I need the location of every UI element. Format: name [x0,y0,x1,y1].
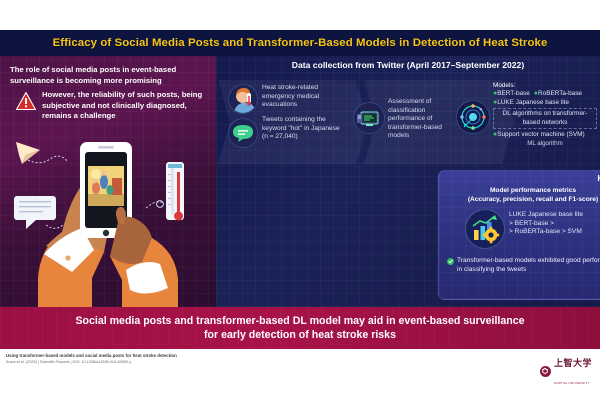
model-item: BERT-base [497,90,530,97]
hands-holding-smartphone-illustration [0,128,216,307]
step1-text: Heat stroke-related emergency medical ev… [262,84,338,110]
warning-text: However, the reliability of such posts, … [42,90,208,122]
page-title: Efficacy of Social Media Posts and Trans… [53,37,548,49]
person-with-thermometer-icon [228,84,258,114]
step3-text: Assessment of classification performance… [388,98,450,141]
sophia-university-crest-icon [540,366,551,377]
methods-and-outcomes-area: Data collection from Twitter (April 2017… [216,56,600,307]
tweet-bubble-icon [228,118,258,148]
key-outcomes-panel: Key outcomes Model performance metrics (… [438,170,600,300]
poster-title-band: Efficacy of Social Media Posts and Trans… [0,30,600,56]
outcomes-left-subtitle: Model performance metrics (Accuracy, pre… [445,187,600,204]
dl-algorithms-note: DL algorithms on transformer-based netwo… [493,108,597,129]
logo-japanese-name: 上智大学 [554,358,592,368]
check-circle-icon [447,258,454,265]
left-context-panel: The role of social media posts in event-… [0,56,216,307]
conclusion-banner: Social media posts and transformer-based… [0,307,600,349]
left-panel-headline: The role of social media posts in event-… [10,64,206,86]
computer-analysis-icon [353,102,385,134]
footer: Using transformer-based models and socia… [0,349,600,400]
warning-triangle-icon [16,92,36,110]
outcome-left-finding: Transformer-based models exhibited good … [447,257,600,274]
paper-plane-icon [16,142,68,164]
ranking-text: LUKE Japanese base lite > BERT-base > > … [509,211,600,237]
chat-bubble-icon [14,196,64,229]
svm-item: Support vector machine (SVM) [497,131,584,138]
step2-text: Tweets containing the keyword "hot" in J… [262,116,342,142]
top-margin [0,0,600,30]
models-header: Models: [493,82,597,90]
bar-chart-gear-icon [465,209,505,249]
footer-caption: Using transformer-based models and socia… [6,353,177,358]
key-outcomes-title: Key outcomes [439,173,600,183]
model-item: RoBERTa-base [538,90,582,97]
banner-line-2: for early detection of heat stroke risks [204,328,396,342]
neural-network-icon [456,100,490,134]
data-collection-title: Data collection from Twitter (April 2017… [216,60,600,70]
thermometer-icon [146,162,184,221]
warning-callout: However, the reliability of such posts, … [16,90,208,122]
model-item: LUKE Japanese base lite [497,99,569,106]
poster-body: The role of social media posts in event-… [0,56,600,307]
models-list: Models: ●BERT-base ●RoBERTa-base ●LUKE J… [493,82,597,149]
infographic-poster: Efficacy of Social Media Posts and Trans… [0,0,600,400]
banner-line-1: Social media posts and transformer-based… [75,314,524,328]
university-logo: 上智大学 SOPHIA UNIVERSITY [540,353,592,389]
footer-citation: Anzai et al. (2025) | Scientific Reports… [6,360,131,364]
ml-algorithm-note: ML algorithm [493,140,597,148]
logo-english-name: SOPHIA UNIVERSITY [554,381,590,385]
